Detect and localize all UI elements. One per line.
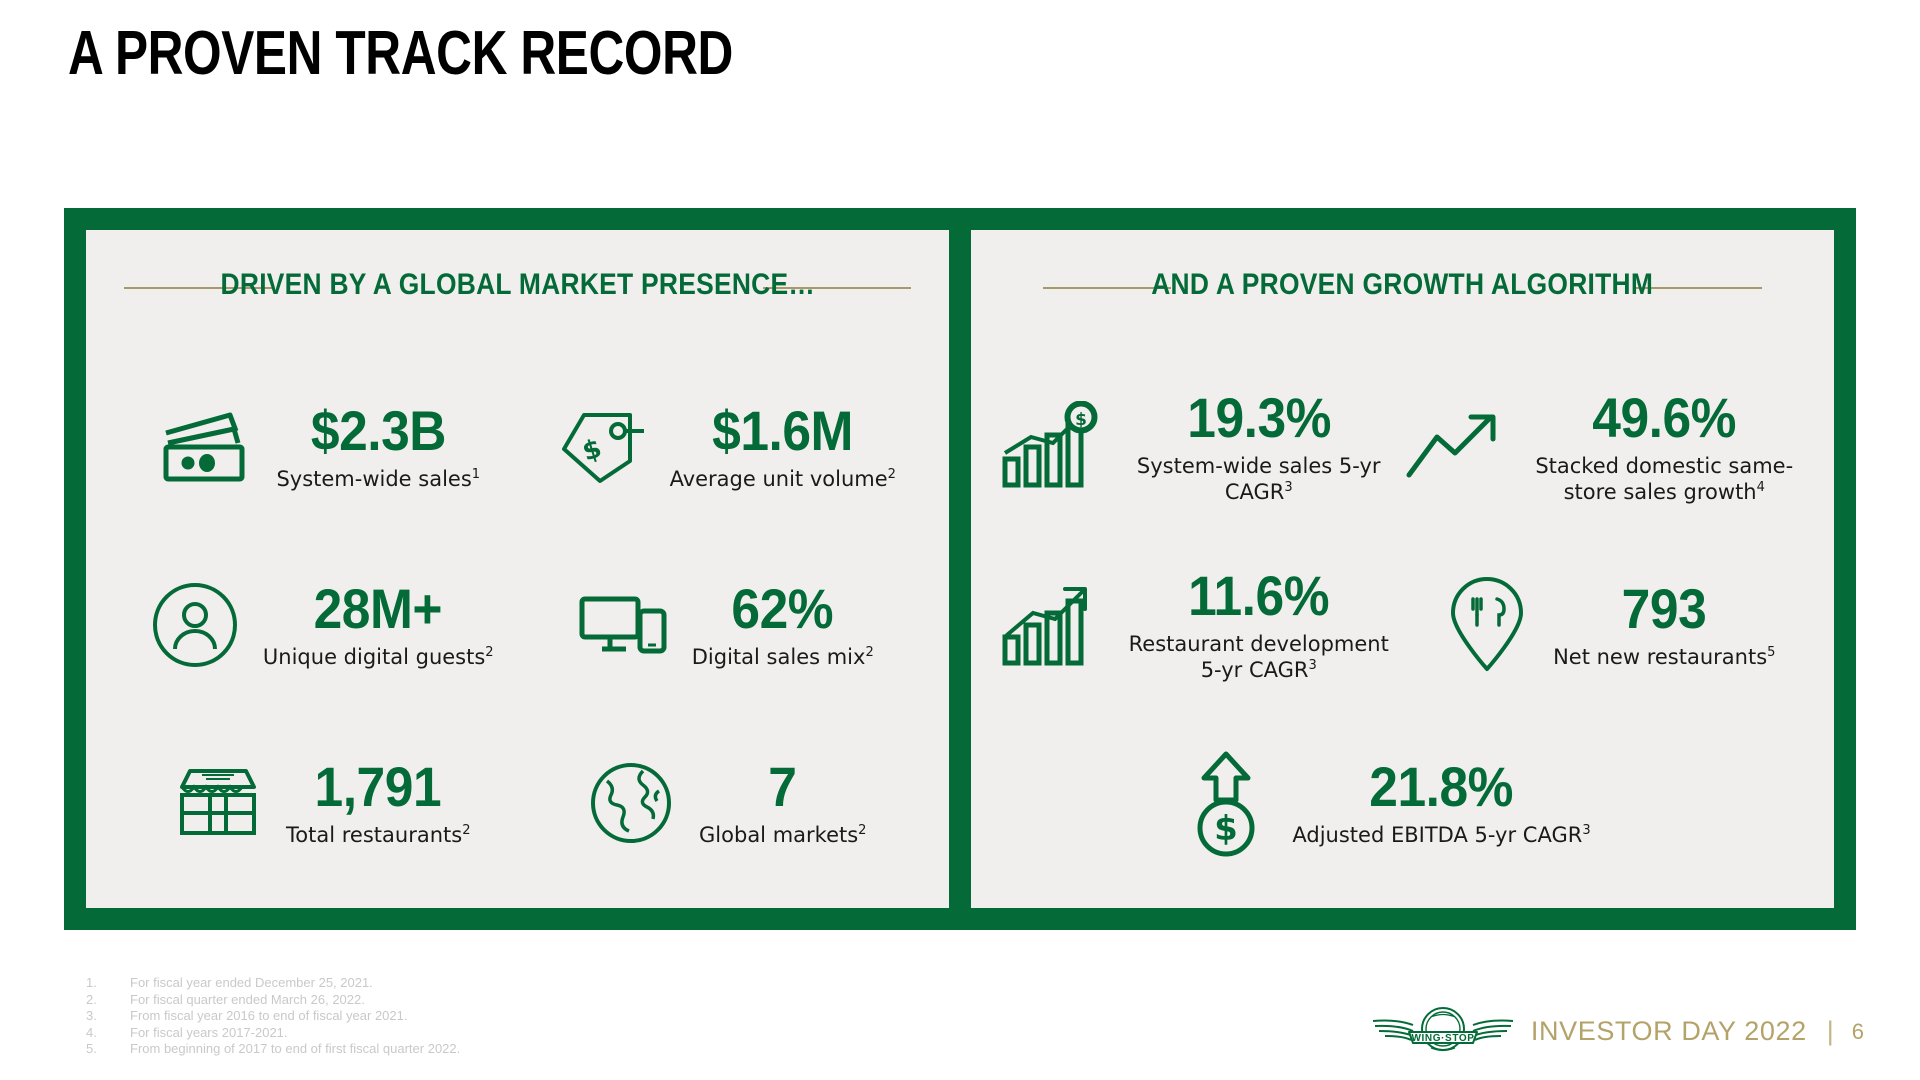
- slide-root: A PROVEN TRACK RECORD DRIVEN BY A GLOBAL…: [0, 0, 1920, 1080]
- stat-label: Stacked domestic same-store sales growth…: [1521, 453, 1809, 505]
- right-panel-header-text: AND A PROVEN GROWTH ALGORITHM: [1152, 266, 1654, 303]
- cash-money-icon: [156, 395, 260, 499]
- globe-icon: [579, 751, 683, 855]
- stat-label: Global markets2: [699, 822, 866, 848]
- stat-value: 7: [769, 758, 797, 816]
- right-stat-grid: $ 19.3% System-wide sales 5-yr CAGR3: [971, 358, 1834, 892]
- footer-separator: |: [1827, 1016, 1834, 1047]
- footnote-text: From fiscal year 2016 to end of fiscal y…: [130, 1008, 407, 1025]
- stat-value: 49.6%: [1592, 389, 1736, 447]
- left-stat-grid: $2.3B System-wide sales1 $: [86, 358, 949, 892]
- svg-text:WING·STOP: WING·STOP: [1411, 1033, 1474, 1044]
- right-panel-header: AND A PROVEN GROWTH ALGORITHM: [971, 266, 1834, 303]
- stat-stacked-domestic-growth: 49.6% Stacked domestic same-store sales …: [1403, 358, 1809, 536]
- stat-digital-sales-mix: 62% Digital sales mix2: [521, 536, 926, 714]
- stat-unique-digital-guests: 28M+ Unique digital guests2: [116, 536, 521, 714]
- stat-body: 1,791 Total restaurants2: [286, 758, 470, 848]
- stat-body: 7 Global markets2: [699, 758, 866, 848]
- footnote-text: For fiscal years 2017-2021.: [130, 1025, 288, 1042]
- wingstop-logo: WING·STOP: [1369, 1001, 1517, 1062]
- footnote-number: 5.: [86, 1041, 130, 1058]
- footnote-item: 3. From fiscal year 2016 to end of fisca…: [86, 1008, 460, 1025]
- right-panel: AND A PROVEN GROWTH ALGORITHM: [971, 230, 1834, 908]
- footnote-number: 2.: [86, 992, 130, 1009]
- stat-value: 793: [1622, 580, 1707, 638]
- restaurant-pin-icon: [1435, 573, 1539, 677]
- page-number: 6: [1852, 1019, 1864, 1045]
- footnote-number: 1.: [86, 975, 130, 992]
- stat-body: 21.8% Adjusted EBITDA 5-yr CAGR3: [1292, 758, 1590, 848]
- dollar-up-arrow-icon: $: [1174, 751, 1278, 855]
- stat-restaurant-development-cagr: 11.6% Restaurant development 5-yr CAGR3: [997, 536, 1403, 714]
- storefront-icon: [166, 751, 270, 855]
- stat-average-unit-volume: $ $1.6M Average unit volume2: [521, 358, 926, 536]
- stat-label: Adjusted EBITDA 5-yr CAGR3: [1292, 822, 1590, 848]
- left-panel: DRIVEN BY A GLOBAL MARKET PRESENCE…: [86, 230, 949, 908]
- footnote-text: For fiscal year ended December 25, 2021.: [130, 975, 373, 992]
- stat-adjusted-ebitda-cagr: $ 21.8% Adjusted EBITDA 5-yr CAGR3: [997, 714, 1808, 892]
- devices-icon: [572, 573, 676, 677]
- stat-label: Digital sales mix2: [692, 644, 874, 670]
- stat-net-new-restaurants: 793 Net new restaurants5: [1403, 536, 1809, 714]
- stat-body: 49.6% Stacked domestic same-store sales …: [1521, 389, 1809, 505]
- footnote-item: 2. For fiscal quarter ended March 26, 20…: [86, 992, 460, 1009]
- page-title: A PROVEN TRACK RECORD: [68, 18, 733, 89]
- footnote-text: For fiscal quarter ended March 26, 2022.: [130, 992, 365, 1009]
- stat-value: 21.8%: [1370, 758, 1514, 816]
- stat-value: $1.6M: [712, 402, 853, 460]
- stat-body: $2.3B System-wide sales1: [276, 402, 480, 492]
- svg-text:$: $: [578, 434, 604, 468]
- stat-label: System-wide sales 5-yr CAGR3: [1115, 453, 1403, 505]
- stat-value: 19.3%: [1187, 389, 1331, 447]
- content-frame: DRIVEN BY A GLOBAL MARKET PRESENCE…: [64, 208, 1856, 930]
- stat-body: $1.6M Average unit volume2: [670, 402, 896, 492]
- stat-value: $2.3B: [311, 402, 446, 460]
- footnote-item: 4. For fiscal years 2017-2021.: [86, 1025, 460, 1042]
- footnote-number: 3.: [86, 1008, 130, 1025]
- left-panel-header-text: DRIVEN BY A GLOBAL MARKET PRESENCE…: [220, 266, 815, 303]
- stat-value: 1,791: [315, 758, 442, 816]
- price-tag-dollar-icon: $: [550, 395, 654, 499]
- stat-label: Restaurant development 5-yr CAGR3: [1115, 631, 1403, 683]
- investor-day-label: INVESTOR DAY 2022: [1531, 1016, 1807, 1047]
- stat-body: 62% Digital sales mix2: [692, 580, 874, 670]
- stat-label: Unique digital guests2: [263, 644, 494, 670]
- stat-body: 793 Net new restaurants5: [1553, 580, 1775, 670]
- stat-body: 28M+ Unique digital guests2: [263, 580, 494, 670]
- footnote-item: 1. For fiscal year ended December 25, 20…: [86, 975, 460, 992]
- stat-label: Net new restaurants5: [1553, 644, 1775, 670]
- user-circle-icon: [143, 573, 247, 677]
- stat-body: 11.6% Restaurant development 5-yr CAGR3: [1115, 567, 1403, 683]
- stat-body: 19.3% System-wide sales 5-yr CAGR3: [1115, 389, 1403, 505]
- svg-text:$: $: [1215, 809, 1239, 849]
- stat-value: 62%: [732, 580, 834, 638]
- trend-arrow-icon: [1403, 395, 1507, 499]
- stat-label: System-wide sales1: [276, 466, 480, 492]
- stat-label: Total restaurants2: [286, 822, 470, 848]
- stat-label: Average unit volume2: [670, 466, 896, 492]
- bar-chart-growth-icon: [997, 573, 1101, 677]
- footnote-number: 4.: [86, 1025, 130, 1042]
- svg-text:$: $: [1075, 410, 1087, 430]
- stat-total-restaurants: 1,791 Total restaurants2: [116, 714, 521, 892]
- bar-chart-dollar-icon: $: [997, 395, 1101, 499]
- footnotes-list: 1. For fiscal year ended December 25, 20…: [86, 975, 460, 1058]
- footer-brand: WING·STOP INVESTOR DAY 2022 | 6: [1369, 1001, 1864, 1062]
- stat-value: 28M+: [314, 580, 442, 638]
- stat-system-wide-sales: $2.3B System-wide sales1: [116, 358, 521, 536]
- footnote-item: 5. From beginning of 2017 to end of firs…: [86, 1041, 460, 1058]
- stat-value: 11.6%: [1188, 567, 1329, 625]
- left-panel-header: DRIVEN BY A GLOBAL MARKET PRESENCE…: [86, 266, 949, 303]
- stat-global-markets: 7 Global markets2: [521, 714, 926, 892]
- stat-system-wide-sales-cagr: $ 19.3% System-wide sales 5-yr CAGR3: [997, 358, 1403, 536]
- footnote-text: From beginning of 2017 to end of first f…: [130, 1041, 460, 1058]
